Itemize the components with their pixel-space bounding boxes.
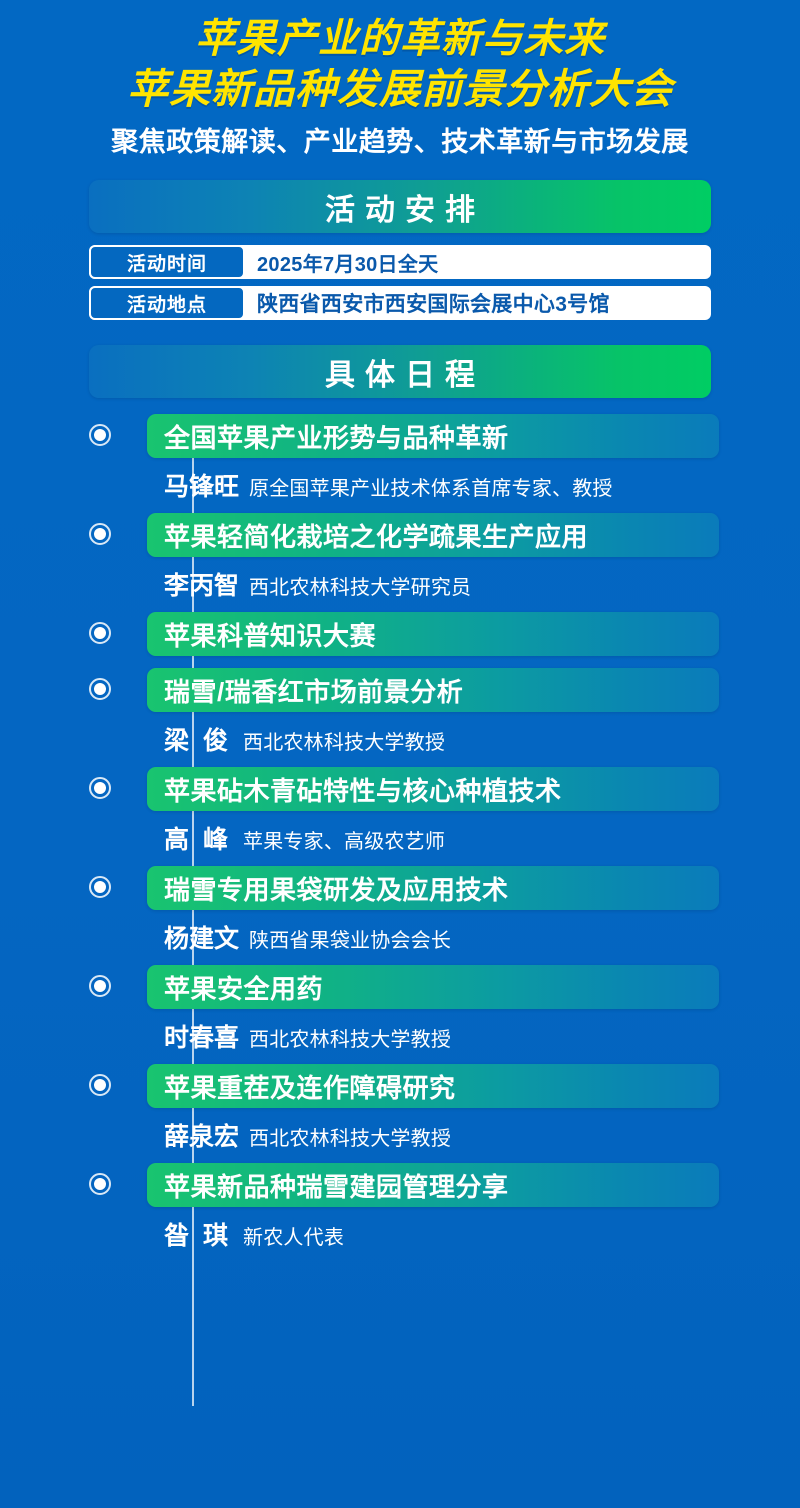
session-topic-label: 瑞雪/瑞香红市场前景分析 <box>164 672 463 709</box>
activity-info-rows: 活动时间 2025年7月30日全天 活动地点 陕西省西安市西安国际会展中心3号馆 <box>89 245 711 320</box>
poster-subtitle: 聚焦政策解读、产业趋势、技术革新与市场发展 <box>0 125 800 159</box>
timeline-dot-icon <box>89 1173 111 1195</box>
session-topic-label: 苹果新品种瑞雪建园管理分享 <box>164 1167 509 1204</box>
schedule-item: 苹果新品种瑞雪建园管理分享昝琪新农人代表 <box>147 1163 711 1250</box>
session-speaker-name: 杨建文 <box>164 919 239 955</box>
poster-title-line-2: 苹果新品种发展前景分析大会 <box>0 64 800 114</box>
activity-section: 活动安排 活动时间 2025年7月30日全天 活动地点 陕西省西安市西安国际会展… <box>0 180 800 320</box>
event-poster: 苹果产业的革新与未来 苹果新品种发展前景分析大会 聚焦政策解读、产业趋势、技术革… <box>0 0 800 1508</box>
schedule-section-header: 具体日程 <box>89 345 711 398</box>
activity-section-title: 活动安排 <box>315 185 485 229</box>
session-topic-pill: 苹果新品种瑞雪建园管理分享 <box>147 1163 719 1207</box>
session-topic-pill: 苹果砧木青砧特性与核心种植技术 <box>147 767 719 811</box>
schedule-item: 苹果轻简化栽培之化学疏果生产应用李丙智西北农林科技大学研究员 <box>147 513 711 600</box>
schedule-item: 苹果重茬及连作障碍研究薛泉宏西北农林科技大学教授 <box>147 1064 711 1151</box>
session-topic-pill: 全国苹果产业形势与品种革新 <box>147 414 719 458</box>
info-label-time: 活动时间 <box>89 245 245 279</box>
info-label-location: 活动地点 <box>89 286 245 320</box>
schedule-item: 苹果安全用药时春喜西北农林科技大学教授 <box>147 965 711 1052</box>
session-speaker-row: 昝琪新农人代表 <box>147 1216 711 1250</box>
session-speaker-name: 昝琪 <box>164 1216 242 1252</box>
session-speaker-name: 薛泉宏 <box>164 1117 239 1153</box>
session-speaker-name: 李丙智 <box>164 566 239 602</box>
info-row-time: 活动时间 2025年7月30日全天 <box>89 245 711 279</box>
schedule-item: 全国苹果产业形势与品种革新马锋旺原全国苹果产业技术体系首席专家、教授 <box>147 414 711 501</box>
session-speaker-title: 西北农林科技大学教授 <box>243 726 445 755</box>
schedule-section: 具体日程 全国苹果产业形势与品种革新马锋旺原全国苹果产业技术体系首席专家、教授苹… <box>0 345 800 1250</box>
session-speaker-row: 时春喜西北农林科技大学教授 <box>147 1018 711 1052</box>
session-speaker-name: 时春喜 <box>164 1018 239 1054</box>
session-topic-label: 苹果科普知识大赛 <box>164 616 376 653</box>
session-topic-label: 瑞雪专用果袋研发及应用技术 <box>164 870 509 907</box>
schedule-item: 瑞雪专用果袋研发及应用技术杨建文陕西省果袋业协会会长 <box>147 866 711 953</box>
timeline-dot-icon <box>89 1074 111 1096</box>
poster-title-line-1: 苹果产业的革新与未来 <box>0 14 800 64</box>
session-topic-pill: 苹果安全用药 <box>147 965 719 1009</box>
activity-section-header: 活动安排 <box>89 180 711 233</box>
session-topic-label: 全国苹果产业形势与品种革新 <box>164 418 509 455</box>
session-speaker-title: 苹果专家、高级农艺师 <box>243 825 445 854</box>
schedule-section-title: 具体日程 <box>315 350 485 394</box>
timeline-dot-icon <box>89 523 111 545</box>
session-speaker-row: 高峰苹果专家、高级农艺师 <box>147 820 711 854</box>
session-topic-pill: 苹果科普知识大赛 <box>147 612 719 656</box>
session-speaker-title: 陕西省果袋业协会会长 <box>249 924 451 953</box>
timeline-dot-icon <box>89 622 111 644</box>
session-speaker-row: 马锋旺原全国苹果产业技术体系首席专家、教授 <box>147 467 711 501</box>
session-speaker-row: 梁俊西北农林科技大学教授 <box>147 721 711 755</box>
session-speaker-name: 梁俊 <box>164 721 242 757</box>
timeline-dot-icon <box>89 678 111 700</box>
session-speaker-name: 马锋旺 <box>164 467 239 503</box>
session-topic-label: 苹果安全用药 <box>164 969 323 1006</box>
schedule-timeline: 全国苹果产业形势与品种革新马锋旺原全国苹果产业技术体系首席专家、教授苹果轻简化栽… <box>89 414 711 1250</box>
timeline-dot-icon <box>89 876 111 898</box>
session-speaker-row: 杨建文陕西省果袋业协会会长 <box>147 919 711 953</box>
schedule-item: 苹果科普知识大赛 <box>147 612 711 656</box>
timeline-dot-icon <box>89 975 111 997</box>
session-topic-pill: 苹果重茬及连作障碍研究 <box>147 1064 719 1108</box>
session-speaker-title: 西北农林科技大学教授 <box>249 1122 451 1151</box>
session-topic-label: 苹果砧木青砧特性与核心种植技术 <box>164 771 562 808</box>
timeline-dot-icon <box>89 777 111 799</box>
session-speaker-row: 薛泉宏西北农林科技大学教授 <box>147 1117 711 1151</box>
session-speaker-row: 李丙智西北农林科技大学研究员 <box>147 566 711 600</box>
session-topic-label: 苹果重茬及连作障碍研究 <box>164 1068 456 1105</box>
session-speaker-title: 西北农林科技大学研究员 <box>249 571 471 600</box>
session-topic-pill: 瑞雪专用果袋研发及应用技术 <box>147 866 719 910</box>
info-value-location: 陕西省西安市西安国际会展中心3号馆 <box>245 286 711 320</box>
session-topic-pill: 苹果轻简化栽培之化学疏果生产应用 <box>147 513 719 557</box>
schedule-item: 瑞雪/瑞香红市场前景分析梁俊西北农林科技大学教授 <box>147 668 711 755</box>
info-row-location: 活动地点 陕西省西安市西安国际会展中心3号馆 <box>89 286 711 320</box>
title-block: 苹果产业的革新与未来 苹果新品种发展前景分析大会 聚焦政策解读、产业趋势、技术革… <box>0 0 800 159</box>
session-speaker-name: 高峰 <box>164 820 242 856</box>
session-speaker-title: 西北农林科技大学教授 <box>249 1023 451 1052</box>
info-value-time: 2025年7月30日全天 <box>245 245 711 279</box>
timeline-dot-icon <box>89 424 111 446</box>
session-speaker-title: 新农人代表 <box>243 1221 344 1250</box>
session-speaker-title: 原全国苹果产业技术体系首席专家、教授 <box>249 472 613 501</box>
session-topic-label: 苹果轻简化栽培之化学疏果生产应用 <box>164 517 588 554</box>
schedule-item: 苹果砧木青砧特性与核心种植技术高峰苹果专家、高级农艺师 <box>147 767 711 854</box>
session-topic-pill: 瑞雪/瑞香红市场前景分析 <box>147 668 719 712</box>
